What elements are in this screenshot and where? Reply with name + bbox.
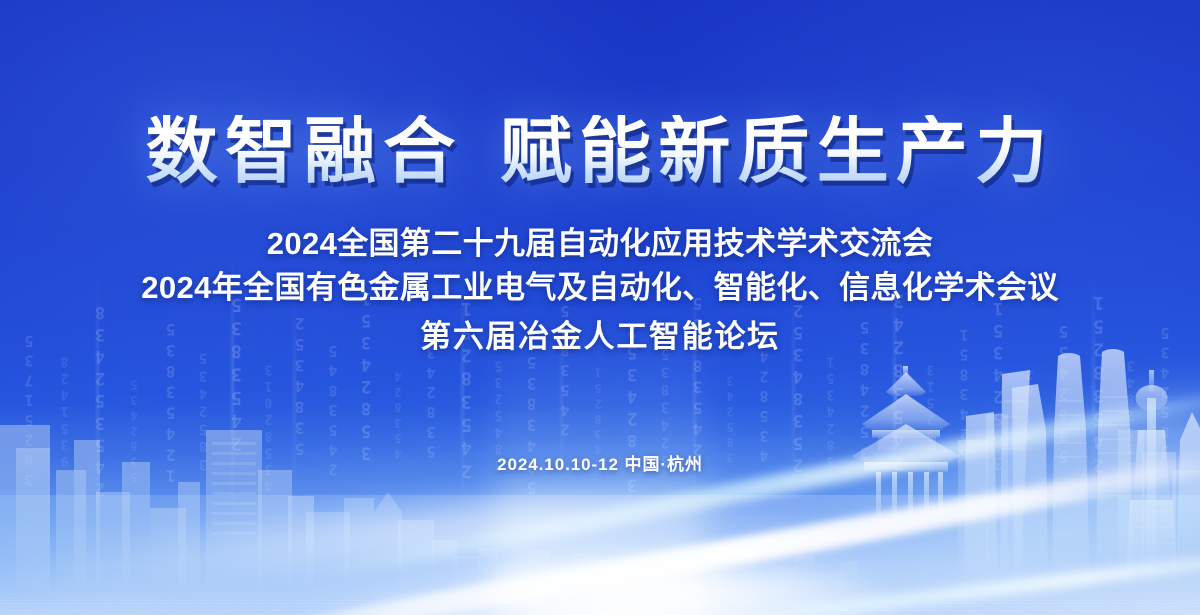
subtitle-line-2: 2024年全国有色金属工业电气及自动化、智能化、信息化学术会议 <box>0 262 1200 307</box>
main-title: 数智融合赋能新质生产力 <box>0 115 1200 190</box>
date-location-text: 2024.10.10-12 中国·杭州 <box>0 450 1200 475</box>
subtitle-line-1: 2024全国第二十九届自动化应用技术学术交流会 <box>0 218 1200 263</box>
main-title-part-1: 数智融合 <box>146 112 463 192</box>
subtitle-line-3: 第六届冶金人工智能论坛 <box>0 311 1200 356</box>
main-title-part-2: 赋能新质生产力 <box>500 112 1054 192</box>
banner-content: 数智融合赋能新质生产力 2024全国第二十九届自动化应用技术学术交流会 2024… <box>0 0 1200 615</box>
conference-banner: 3825173593514282453524385382435124538353… <box>0 0 1200 615</box>
